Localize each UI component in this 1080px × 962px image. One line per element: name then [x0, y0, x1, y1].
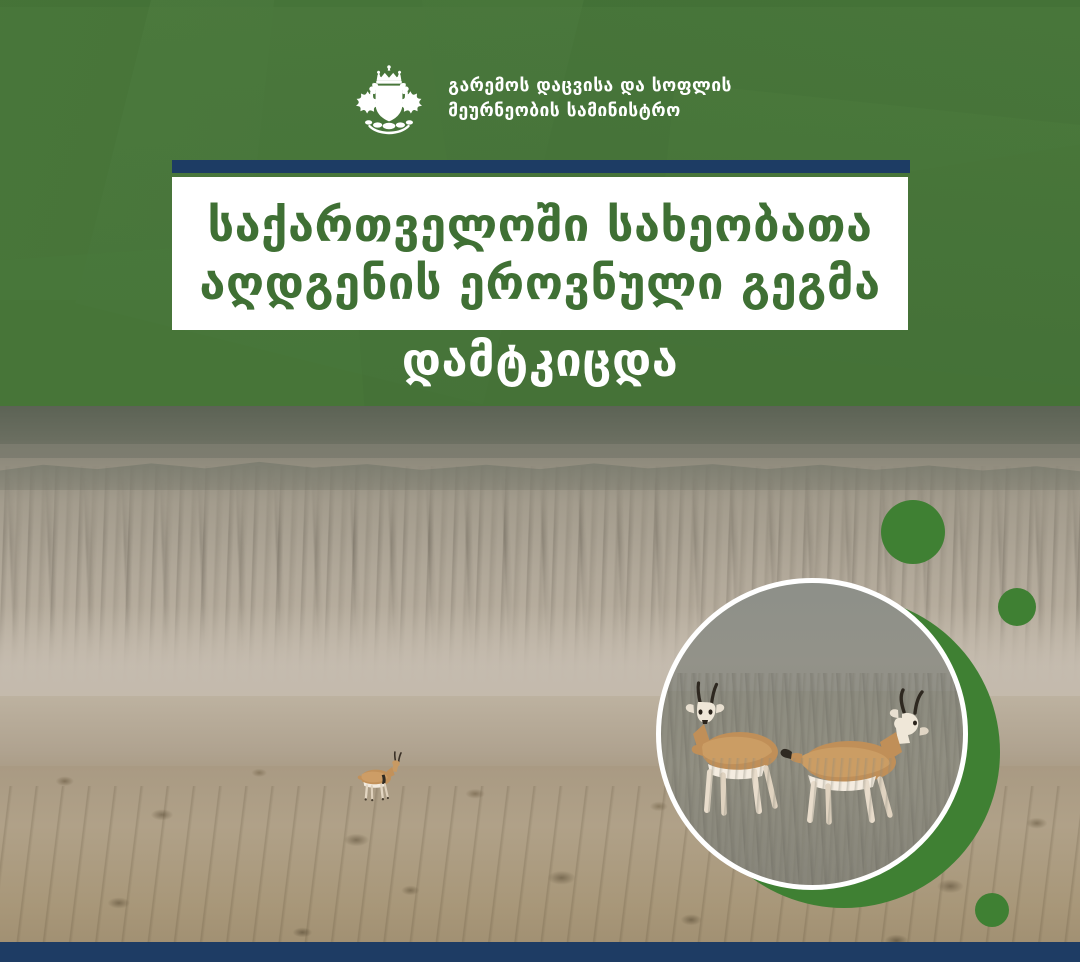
decor-dot-large — [881, 500, 945, 564]
inset-white-ring — [656, 578, 968, 890]
decor-dot-extra-small — [975, 893, 1009, 927]
title-card: საქართველოში სახეობათა აღდგენის ეროვნული… — [172, 177, 908, 330]
ministry-name-line-2: მეურნეობის სამინისტრო — [448, 99, 732, 124]
ministry-name: გარემოს დაცვისა და სოფლის მეურნეობის სამ… — [448, 74, 732, 124]
title-accent-bar — [172, 160, 910, 173]
decor-dot-small — [998, 588, 1036, 626]
title-line-2: აღდგენის ეროვნული გეგმა — [199, 256, 880, 311]
title-line-1: საქართველოში სახეობათა — [207, 198, 872, 253]
goitered-gazelle-icon — [348, 748, 432, 810]
footer-accent-bar — [0, 942, 1080, 962]
ministry-logo-lockup: გარემოს დაცვისა და სოფლის მეურნეობის სამ… — [0, 62, 1080, 136]
poster-root: გარემოს დაცვისა და სოფლის მეურნეობის სამ… — [0, 0, 1080, 962]
title-line-3: დამტკიცდა — [0, 335, 1080, 387]
ministry-name-line-1: გარემოს დაცვისა და სოფლის — [448, 74, 732, 99]
georgia-coat-of-arms-icon — [348, 62, 430, 136]
